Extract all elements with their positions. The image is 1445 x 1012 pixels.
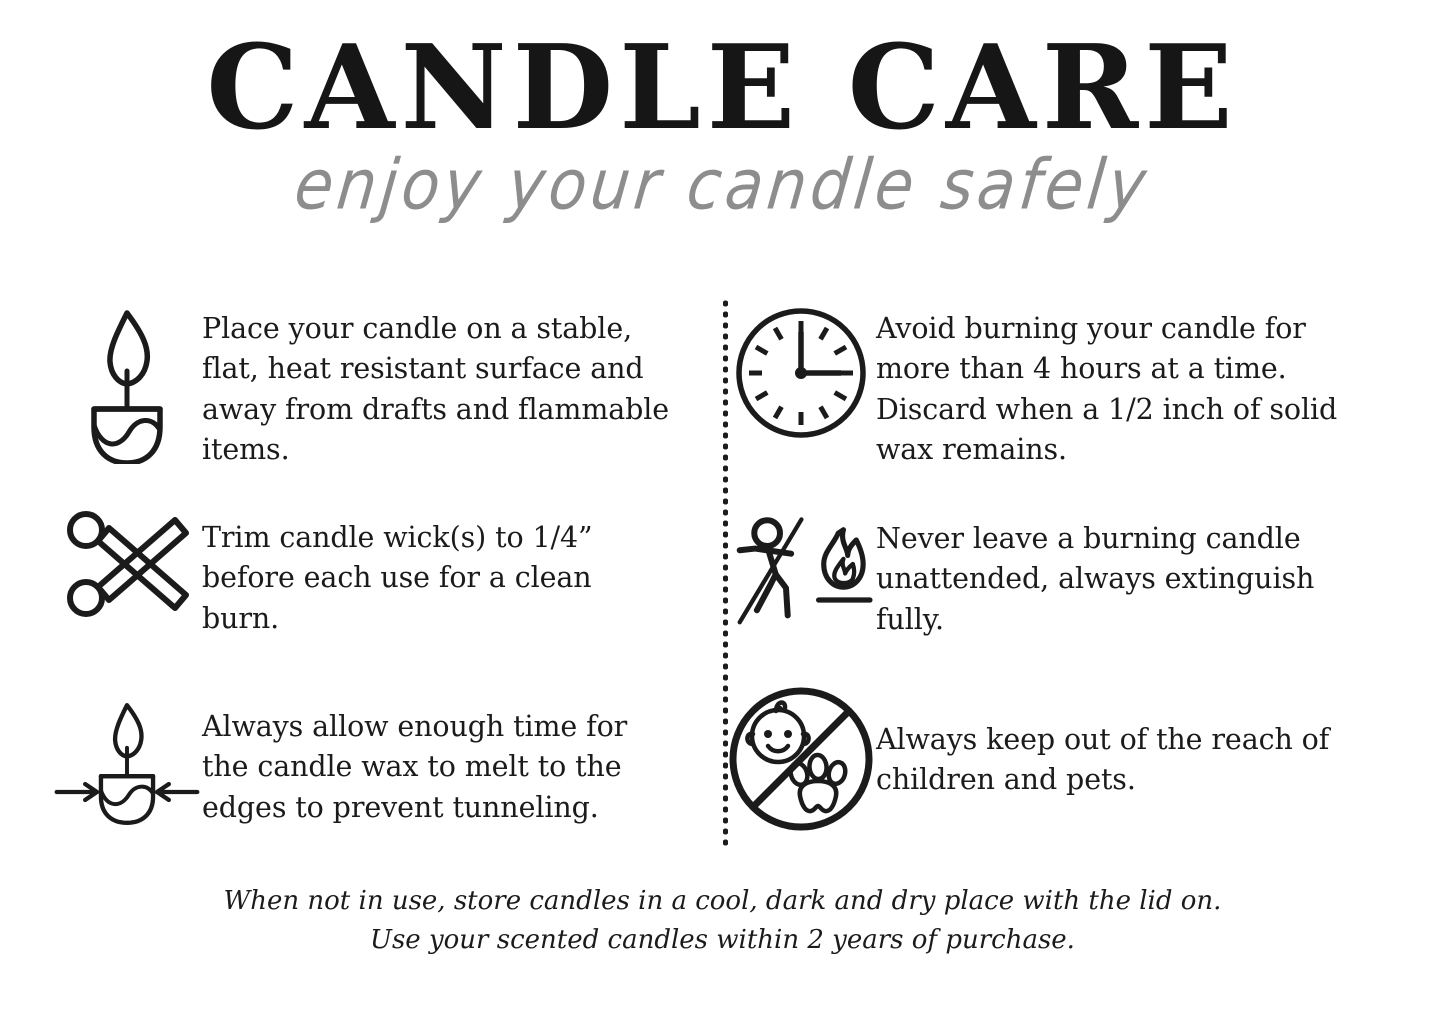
card-header: CANDLE CARE enjoy your candle safely [0, 30, 1445, 217]
tip-burn-time-limit: Avoid burning your candle for more than … [726, 295, 1353, 495]
candle-care-card: CANDLE CARE enjoy your candle safely [0, 0, 1445, 1012]
clock-icon [726, 295, 876, 443]
tip-trim-wick: Trim candle wick(s) to 1/4” before each … [52, 495, 672, 680]
tip-place-candle: Place your candle on a stable, flat, hea… [52, 295, 672, 495]
tip-never-unattended: Never leave a burning candle unattended,… [726, 495, 1353, 680]
footer-line-storage: When not in use, store candles in a cool… [0, 882, 1445, 921]
tips-container: Place your candle on a stable, flat, hea… [0, 295, 1445, 855]
tip-text: Always allow enough time for the candle … [202, 680, 672, 828]
footer-line-shelf-life: Use your scented candles within 2 years … [0, 921, 1445, 960]
page-subtitle: enjoy your candle safely [0, 148, 1445, 221]
card-footer: When not in use, store candles in a cool… [0, 882, 1445, 960]
candle-tunneling-arrows-icon [52, 680, 202, 842]
tip-text: Trim candle wick(s) to 1/4” before each … [202, 495, 672, 639]
person-leaving-fire-icon [726, 495, 876, 635]
tip-text: Place your candle on a stable, flat, hea… [202, 295, 672, 471]
tip-prevent-tunneling: Always allow enough time for the candle … [52, 680, 672, 855]
tip-text: Avoid burning your candle for more than … [876, 295, 1353, 471]
left-column: Place your candle on a stable, flat, hea… [0, 295, 686, 855]
candle-on-surface-icon [52, 295, 202, 464]
tip-keep-away-children-pets: Always keep out of the reach of children… [726, 680, 1353, 855]
tip-text: Always keep out of the reach of children… [876, 680, 1353, 801]
page-title: CANDLE CARE [0, 30, 1445, 146]
right-column: Avoid burning your candle for more than … [686, 295, 1405, 855]
tip-text: Never leave a burning candle unattended,… [876, 495, 1353, 640]
no-children-pets-icon [726, 680, 876, 834]
scissors-icon [52, 495, 202, 625]
